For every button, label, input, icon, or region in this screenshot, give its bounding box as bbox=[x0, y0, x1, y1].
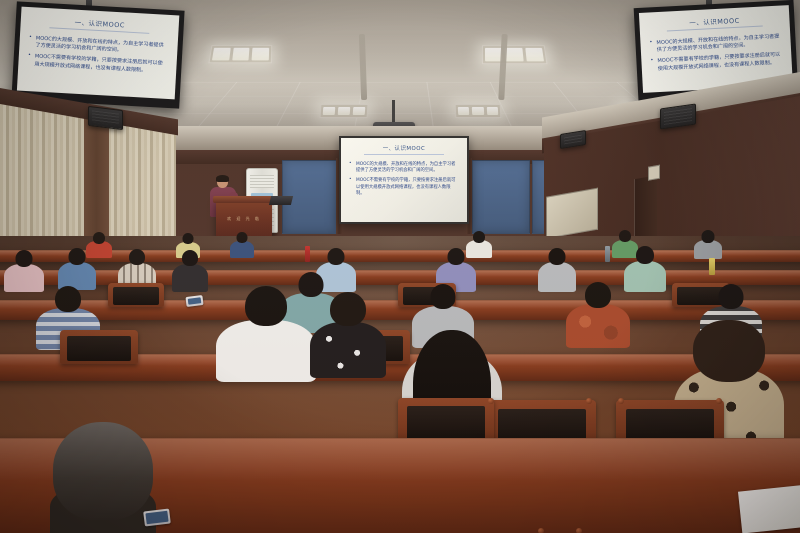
slide-bullet: MOOC不需要有学校的学籍，只要按要求注册后就可以使用大规模开放式网络课程，也没… bbox=[349, 178, 459, 197]
presenter-hair bbox=[216, 175, 229, 182]
water-bottle bbox=[305, 246, 310, 262]
head bbox=[182, 250, 198, 266]
water-bottle bbox=[709, 258, 715, 275]
attendee-mint-green bbox=[624, 246, 666, 290]
attendee-grey-shirt bbox=[694, 230, 722, 258]
head bbox=[93, 232, 105, 244]
slide-bullet: MOOC的大规模、开放和在线的特点，为自主学习者提供了方便灵活的学习机会和广阔的… bbox=[349, 162, 459, 174]
torso bbox=[310, 322, 386, 378]
podium-label: 欢 迎 光 临 bbox=[216, 216, 272, 222]
podium-laptop bbox=[269, 196, 293, 205]
attendee-navy-shirt bbox=[230, 232, 254, 257]
right-wall-notice-board bbox=[546, 188, 598, 239]
right-wall-light-switch[interactable] bbox=[648, 165, 660, 181]
seat-knob bbox=[716, 398, 722, 404]
head bbox=[585, 282, 611, 308]
ceiling-monitor-left: 一、认识MOOC MOOC的大规模、开放和在线的特点，为自主学习者提供了方便灵活… bbox=[11, 1, 184, 108]
torso bbox=[172, 264, 208, 292]
head bbox=[473, 231, 485, 243]
slide-bullet: MOOC不需要有学校的学籍，只要按要求注册后就可以使用大规模开放式网络课程，也没… bbox=[650, 52, 783, 73]
head bbox=[237, 232, 248, 243]
head bbox=[719, 284, 744, 309]
seat-knob bbox=[576, 528, 582, 533]
seat-knob bbox=[618, 398, 624, 404]
head bbox=[702, 230, 715, 243]
monitor-left-screen: 一、认识MOOC MOOC的大规模、开放和在线的特点，为自主学习者提供了方便灵活… bbox=[17, 7, 179, 100]
head bbox=[431, 284, 456, 309]
slide-body: MOOC的大规模、开放和在线的特点，为自主学习者提供了方便灵活的学习机会和广阔的… bbox=[349, 162, 459, 197]
attendee-blue-shirt bbox=[58, 248, 96, 288]
seat-back bbox=[60, 330, 138, 364]
torso bbox=[216, 320, 316, 382]
attendee-pink-shirt bbox=[4, 250, 44, 290]
paper-sheet bbox=[738, 484, 800, 533]
seat-knob bbox=[586, 398, 592, 404]
head bbox=[330, 292, 366, 326]
podium-top-surface bbox=[213, 196, 275, 203]
lecture-hall-photo: 一、认识MOOC MOOC的大规模、开放和在线的特点，为自主学习者提供了方便灵活… bbox=[0, 0, 800, 533]
torso bbox=[566, 304, 630, 348]
head bbox=[53, 422, 153, 520]
slide-title: 一、认识MOOC bbox=[349, 144, 459, 155]
slide-body: MOOC的大规模、开放和在线的特点，为自主学习者提供了方便灵活的学习机会和广阔的… bbox=[27, 35, 169, 76]
attendee-white-shirt bbox=[216, 286, 316, 376]
attendee-orange-floral bbox=[566, 282, 630, 344]
head bbox=[183, 233, 194, 244]
head bbox=[55, 286, 81, 312]
projector-mount-rod bbox=[392, 100, 395, 124]
seat-knob bbox=[488, 398, 494, 404]
attendee-grey-hair-phone bbox=[50, 422, 156, 533]
head bbox=[328, 248, 345, 265]
head bbox=[245, 286, 287, 326]
slide-title: 一、认识MOOC bbox=[29, 14, 170, 35]
projection-screen-surface: 一、认识MOOC MOOC的大规模、开放和在线的特点，为自主学习者提供了方便灵活… bbox=[341, 138, 467, 222]
front-wall-blue-panel bbox=[472, 160, 530, 234]
slide-body: MOOC的大规模、开放和在线的特点，为自主学习者提供了方便灵活的学习机会和广阔的… bbox=[649, 34, 783, 74]
attendee-polkadot-dress bbox=[310, 292, 386, 374]
head bbox=[636, 246, 654, 264]
attendee-dark-top bbox=[172, 250, 208, 290]
head bbox=[549, 248, 566, 265]
smartphone[interactable] bbox=[185, 295, 203, 307]
wall-speaker bbox=[88, 106, 123, 130]
ac-vent bbox=[250, 175, 274, 188]
projection-screen: 一、认识MOOC MOOC的大规模、开放和在线的特点，为自主学习者提供了方便灵活… bbox=[339, 136, 469, 224]
slide-bullet: MOOC不需要有学校的学籍，只要按要求注册后就可以使用大规模开放式网络课程，也没… bbox=[27, 54, 168, 76]
smartphone[interactable] bbox=[143, 508, 171, 526]
seat-back bbox=[108, 283, 164, 307]
slide-title: 一、认识MOOC bbox=[648, 13, 780, 33]
head bbox=[693, 320, 765, 382]
head bbox=[448, 248, 465, 265]
seat-knob bbox=[538, 528, 544, 533]
head bbox=[16, 250, 33, 267]
torso bbox=[230, 241, 254, 258]
head bbox=[619, 230, 631, 242]
torso bbox=[624, 261, 666, 292]
head bbox=[129, 249, 145, 265]
head bbox=[69, 248, 86, 265]
water-bottle bbox=[605, 246, 610, 262]
